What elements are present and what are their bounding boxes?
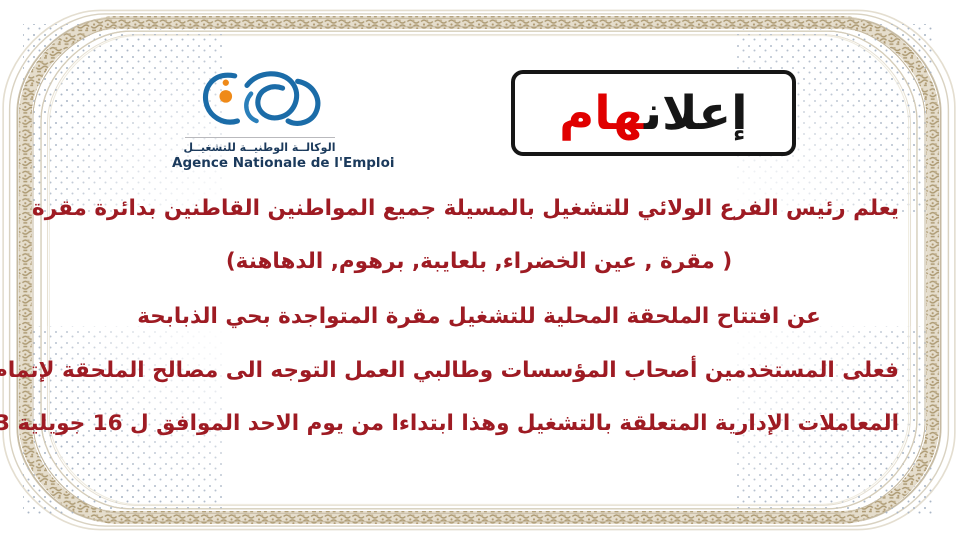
badge-word-ialan: إعلان bbox=[645, 86, 749, 141]
important-announcement-badge: إعلانهام bbox=[512, 70, 797, 156]
poster-content: الوكالــة الوطنيــة للتشغيــل Agence Nat… bbox=[60, 40, 900, 500]
badge-text: إعلانهام bbox=[560, 90, 748, 137]
announcement-poster: الوكالــة الوطنيــة للتشغيــل Agence Nat… bbox=[0, 0, 960, 540]
logo-divider bbox=[186, 137, 336, 138]
logo-french-name: Agence Nationale de l'Emploi bbox=[173, 155, 348, 173]
announcement-line-1: يعلم رئيس الفرع الولائي للتشغيل بالمسيلة… bbox=[60, 195, 900, 224]
logo-arabic-name: الوكالــة الوطنيــة للتشغيــل bbox=[173, 142, 348, 154]
announcement-line-4: فعلى المستخدمين أصحاب المؤسسات وطالبي ال… bbox=[60, 357, 900, 386]
announcement-line-5: المعاملات الإدارية المتعلقة بالتشغيل وهذ… bbox=[60, 410, 900, 439]
announcement-line-3: عن افتتاح الملحقة المحلية للتشغيل مقرة ا… bbox=[60, 303, 900, 332]
agence-nationale-emploi-logo-icon bbox=[196, 58, 326, 132]
announcement-body: يعلم رئيس الفرع الولائي للتشغيل بالمسيلة… bbox=[60, 195, 900, 439]
announcement-line-2: ( مقرة , عين الخضراء, بلعايبة, برهوم, ال… bbox=[60, 248, 900, 277]
badge-word-haam: هام bbox=[560, 86, 645, 141]
logo-block: الوكالــة الوطنيــة للتشغيــل Agence Nat… bbox=[173, 58, 348, 173]
poster-header: الوكالــة الوطنيــة للتشغيــل Agence Nat… bbox=[60, 48, 900, 178]
